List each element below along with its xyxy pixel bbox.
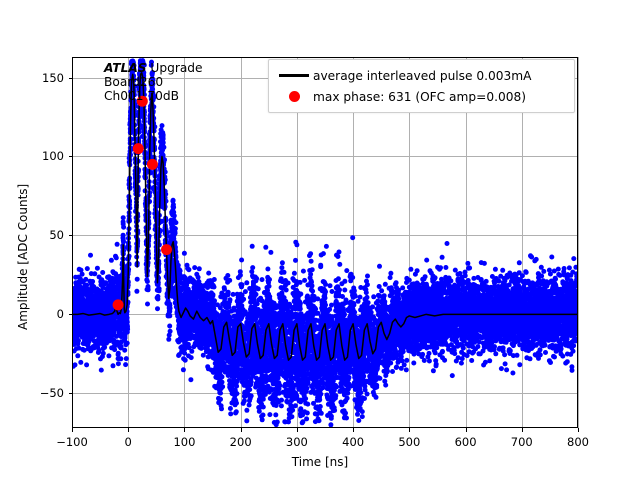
x-tick xyxy=(72,428,73,432)
y-tick-label: 0 xyxy=(34,307,64,321)
x-tick-label: −100 xyxy=(56,435,88,449)
legend-dot-swatch xyxy=(275,91,313,102)
y-tick xyxy=(69,314,73,315)
y-tick xyxy=(69,156,73,157)
x-tick-label: 0 xyxy=(125,435,132,449)
x-tick xyxy=(578,428,579,432)
x-tick-label: 300 xyxy=(286,435,308,449)
y-tick-label: −50 xyxy=(34,386,64,400)
x-tick xyxy=(522,428,523,432)
gridline-vertical xyxy=(578,57,579,428)
x-tick xyxy=(409,428,410,432)
legend-entry-max-phase: max phase: 631 (OFC amp=0.008) xyxy=(275,86,566,107)
x-tick-label: 700 xyxy=(511,435,533,449)
y-tick-label: 100 xyxy=(34,149,64,163)
y-tick xyxy=(69,235,73,236)
y-axis-label: Amplitude [ADC Counts] xyxy=(16,184,30,330)
y-tick-label: 50 xyxy=(34,228,64,242)
legend-entry-average-pulse: average interleaved pulse 0.003mA xyxy=(275,65,566,86)
x-tick-label: 200 xyxy=(230,435,252,449)
x-tick xyxy=(353,428,354,432)
x-tick xyxy=(128,428,129,432)
x-tick xyxy=(466,428,467,432)
legend-label-max-phase: max phase: 631 (OFC amp=0.008) xyxy=(313,90,526,104)
figure: −1000100200300400500600700800−5005010015… xyxy=(0,0,640,480)
y-tick-label: 150 xyxy=(34,71,64,85)
x-tick-label: 500 xyxy=(398,435,420,449)
x-tick-label: 400 xyxy=(342,435,364,449)
y-tick xyxy=(69,78,73,79)
x-tick xyxy=(241,428,242,432)
x-tick xyxy=(297,428,298,432)
legend-line-swatch xyxy=(275,74,313,76)
x-tick-label: 100 xyxy=(173,435,195,449)
y-tick xyxy=(69,393,73,394)
x-tick-label: 600 xyxy=(455,435,477,449)
legend-label-average-pulse: average interleaved pulse 0.003mA xyxy=(313,69,532,83)
x-axis-label: Time [ns] xyxy=(0,455,640,469)
legend: average interleaved pulse 0.003mA max ph… xyxy=(268,59,575,113)
x-tick-label: 800 xyxy=(567,435,589,449)
x-tick xyxy=(184,428,185,432)
